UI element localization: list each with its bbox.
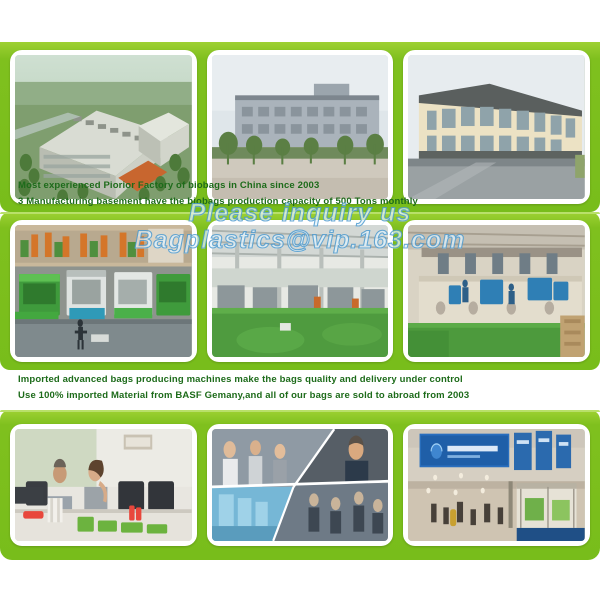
photo-trade-show-collage-image xyxy=(212,429,389,541)
machinery-and-material: Imported advanced bags producing machine… xyxy=(0,372,600,404)
machinery-line-1: Imported advanced bags producing machine… xyxy=(18,372,600,388)
photo-bag-making-machines[interactable] xyxy=(10,220,197,362)
photo-bag-making-machines-image xyxy=(15,225,192,357)
photo-workshop-interior[interactable] xyxy=(207,220,394,362)
photo-exhibition-hall[interactable] xyxy=(403,424,590,546)
production-floor-band xyxy=(0,212,600,370)
credentials-line-2: 3 Manufacturing basement have the biobag… xyxy=(18,194,600,210)
business-and-exhibition-band xyxy=(0,410,600,560)
photo-printing-machine-image xyxy=(408,225,585,357)
photo-trade-show-collage[interactable] xyxy=(207,424,394,546)
company-credentials: Most experienced Piorior Factory of biob… xyxy=(0,178,600,210)
photo-workshop-interior-image xyxy=(212,225,389,357)
photo-customer-meeting-image xyxy=(15,429,192,541)
company-profile-banner: Most experienced Piorior Factory of biob… xyxy=(0,0,600,600)
photo-printing-machine[interactable] xyxy=(403,220,590,362)
credentials-line-1: Most experienced Piorior Factory of biob… xyxy=(18,178,600,194)
photo-row-business xyxy=(10,424,590,546)
photo-row-production xyxy=(10,220,590,362)
machinery-line-2: Use 100% imported Material from BASF Gem… xyxy=(18,388,600,404)
photo-customer-meeting[interactable] xyxy=(10,424,197,546)
photo-exhibition-hall-image xyxy=(408,429,585,541)
